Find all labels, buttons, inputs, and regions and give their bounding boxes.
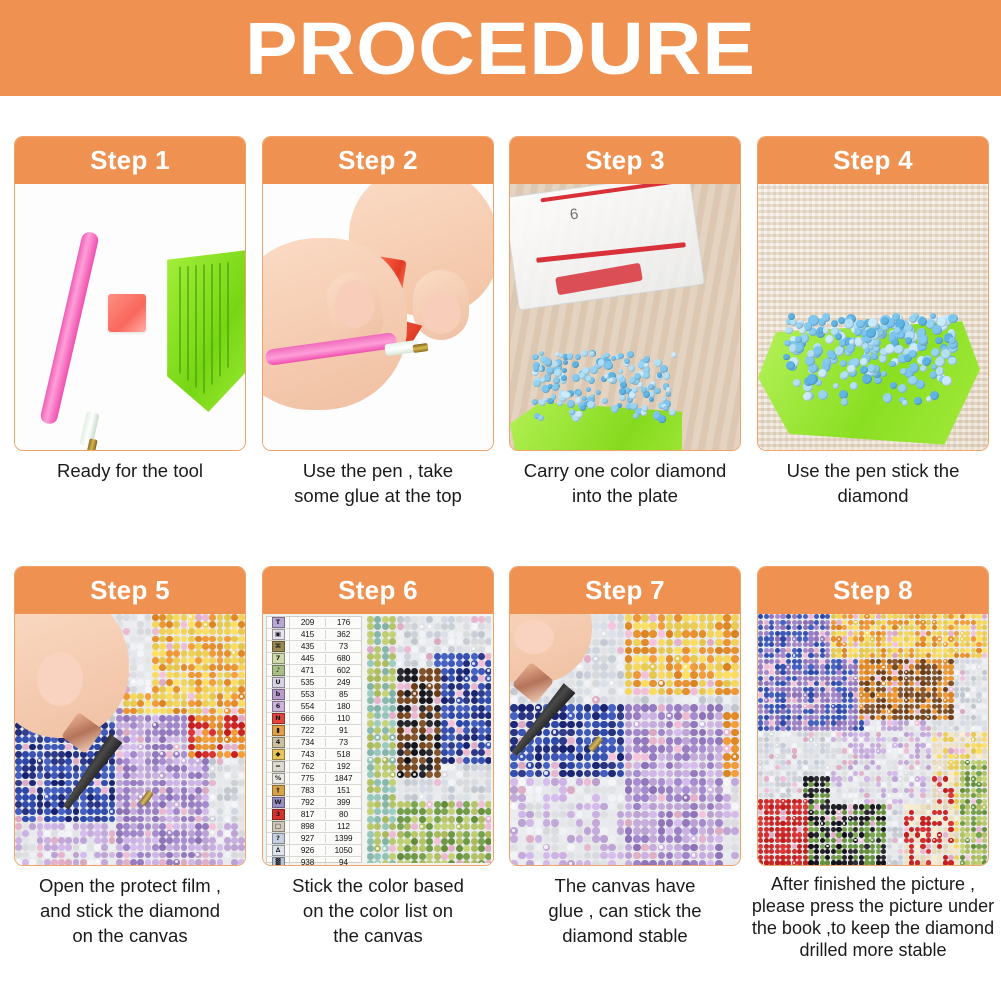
color-count: 399 [326, 798, 361, 807]
color-swatch: W [267, 797, 290, 808]
color-code: 927 [290, 834, 326, 843]
color-swatch: % [267, 773, 290, 784]
color-swatch: ∆ [267, 845, 290, 856]
color-count: 80 [326, 810, 361, 819]
diamond-canvas [367, 616, 491, 863]
page-title: PROCEDURE [0, 0, 1001, 96]
color-code: 762 [290, 762, 326, 771]
step-label-2: Step 2 [338, 145, 418, 176]
color-list-row: ?9271399 [267, 833, 361, 845]
color-list-row: ◆743518 [267, 749, 361, 761]
step-label-4: Step 4 [833, 145, 913, 176]
fingernail [37, 652, 83, 706]
step-card-4: Step 4 [757, 136, 989, 451]
color-code: 722 [290, 726, 326, 735]
step-caption-7: The canvas have glue , can stick the dia… [503, 873, 747, 948]
color-count: 518 [326, 750, 361, 759]
step-caption-3: Carry one color diamond into the plate [503, 458, 747, 508]
step-banner-7: Step 7 [510, 567, 740, 614]
color-count: 110 [326, 714, 361, 723]
color-swatch: ▮ [267, 725, 290, 736]
color-swatch: ═ [267, 761, 290, 772]
step-photo-8 [758, 614, 988, 865]
color-count: 602 [326, 666, 361, 675]
color-count: 94 [326, 858, 361, 865]
color-code: 792 [290, 798, 326, 807]
color-list-row: □898112 [267, 821, 361, 833]
color-count: 1399 [326, 834, 361, 843]
color-list-row: U535249 [267, 677, 361, 689]
step-photo-1 [15, 184, 245, 450]
color-count: 180 [326, 702, 361, 711]
step-caption-6: Stick the color based on the color list … [256, 873, 500, 948]
color-swatch: 4 [267, 737, 290, 748]
color-code: 938 [290, 858, 326, 865]
color-swatch: N [267, 713, 290, 724]
step-photo-4 [758, 184, 988, 450]
step-card-1: Step 1 R [14, 136, 246, 451]
color-swatch: ? [267, 833, 290, 844]
color-count: 73 [326, 738, 361, 747]
step-caption-5: Open the protect film , and stick the di… [8, 873, 252, 948]
step-card-6: Step 6 T209176▣415362⌘435737445680♪47160… [262, 566, 494, 866]
step-banner-3: Step 3 [510, 137, 740, 184]
color-count: 362 [326, 630, 361, 639]
color-count: 1847 [326, 774, 361, 783]
color-list-row: 381780 [267, 809, 361, 821]
color-list-row: ♪471602 [267, 665, 361, 677]
step-card-7: Step 7 The canvas have glue , can stick … [509, 566, 741, 866]
fingernail [335, 280, 375, 328]
steps-grid: Step 1 R [0, 96, 1001, 1001]
color-code: 666 [290, 714, 326, 723]
step-label-1: Step 1 [90, 145, 170, 176]
step-label-6: Step 6 [338, 575, 418, 606]
color-swatch: U [267, 677, 290, 688]
color-list-row: †783151 [267, 785, 361, 797]
step-photo-7 [510, 614, 740, 865]
color-swatch: ♪ [267, 665, 290, 676]
finished-diamond-painting [758, 614, 988, 865]
step-label-5: Step 5 [90, 575, 170, 606]
color-list-row: N666110 [267, 713, 361, 725]
color-code: 554 [290, 702, 326, 711]
color-count: 91 [326, 726, 361, 735]
step-photo-2 [263, 184, 493, 450]
color-code: 783 [290, 786, 326, 795]
color-code: 415 [290, 630, 326, 639]
step-label-3: Step 3 [585, 145, 665, 176]
color-code: 743 [290, 750, 326, 759]
color-count: 73 [326, 642, 361, 651]
color-swatch: T [267, 617, 290, 628]
color-list-row: T209176 [267, 617, 361, 629]
color-swatch: b [267, 689, 290, 700]
step-caption-2: Use the pen , take some glue at the top [256, 458, 500, 508]
color-list-row: %7751847 [267, 773, 361, 785]
color-list-row: 473473 [267, 737, 361, 749]
color-swatch: ⌘ [267, 641, 290, 652]
step-banner-5: Step 5 [15, 567, 245, 614]
color-code: 817 [290, 810, 326, 819]
diamond-beads [782, 312, 952, 398]
color-list-row: ═762192 [267, 761, 361, 773]
color-code: 209 [290, 618, 326, 627]
step-caption-1: Ready for the tool [8, 458, 252, 483]
glue-square [108, 294, 146, 332]
color-list-table: T209176▣415362⌘435737445680♪471602U53524… [266, 616, 362, 863]
color-swatch: ▣ [267, 629, 290, 640]
procedure-infographic: PROCEDURE Step 1 [0, 0, 1001, 1001]
color-code: 734 [290, 738, 326, 747]
color-code: 553 [290, 690, 326, 699]
color-list-row: W792399 [267, 797, 361, 809]
step-banner-6: Step 6 [263, 567, 493, 614]
diamond-beads [532, 350, 672, 420]
step-banner-4: Step 4 [758, 137, 988, 184]
step-card-8: Step 8 After finished the picture , plea… [757, 566, 989, 866]
color-list-row: ⌘43573 [267, 641, 361, 653]
color-swatch: 7 [267, 653, 290, 664]
color-code: 435 [290, 642, 326, 651]
step-label-8: Step 8 [833, 575, 913, 606]
color-count: 680 [326, 654, 361, 663]
color-count: 176 [326, 618, 361, 627]
color-list-row: ▓93894 [267, 857, 361, 865]
step-card-2: Step 2 [262, 136, 494, 451]
fingernail [514, 620, 554, 654]
step-banner-1: Step 1 [15, 137, 245, 184]
color-code: 445 [290, 654, 326, 663]
steps-row-top: Step 1 R [0, 136, 1001, 556]
color-code: 535 [290, 678, 326, 687]
color-list-row: b55385 [267, 689, 361, 701]
color-count: 85 [326, 690, 361, 699]
color-swatch: 3 [267, 809, 290, 820]
color-list-row: 7445680 [267, 653, 361, 665]
step-caption-4: Use the pen stick the diamond [751, 458, 995, 508]
color-count: 1050 [326, 846, 361, 855]
step-card-3: Step 3 6 [509, 136, 741, 451]
color-count: 112 [326, 822, 361, 831]
header-banner: PROCEDURE [0, 0, 1001, 96]
color-code: 775 [290, 774, 326, 783]
color-code: 898 [290, 822, 326, 831]
color-code: 926 [290, 846, 326, 855]
color-code: 471 [290, 666, 326, 675]
color-count: 192 [326, 762, 361, 771]
color-list-row: ▣415362 [267, 629, 361, 641]
color-swatch: □ [267, 821, 290, 832]
step-photo-3: 6 [510, 184, 740, 450]
color-list-row: ▮72291 [267, 725, 361, 737]
color-swatch: ▓ [267, 857, 290, 865]
step-caption-8: After finished the picture , please pres… [751, 873, 995, 961]
step-banner-2: Step 2 [263, 137, 493, 184]
color-count: 151 [326, 786, 361, 795]
color-list-row: 6554180 [267, 701, 361, 713]
fingernail [421, 292, 461, 334]
steps-row-bottom: Step 5 Open the protect film , and stick… [0, 566, 1001, 986]
color-count: 249 [326, 678, 361, 687]
step-label-7: Step 7 [585, 575, 665, 606]
step-photo-5 [15, 614, 245, 865]
step-photo-6: T209176▣415362⌘435737445680♪471602U53524… [263, 614, 493, 865]
color-swatch: † [267, 785, 290, 796]
step-card-5: Step 5 Open the protect film , and stick… [14, 566, 246, 866]
color-swatch: ◆ [267, 749, 290, 760]
color-swatch: 6 [267, 701, 290, 712]
color-list-row: ∆9261050 [267, 845, 361, 857]
step-banner-8: Step 8 [758, 567, 988, 614]
